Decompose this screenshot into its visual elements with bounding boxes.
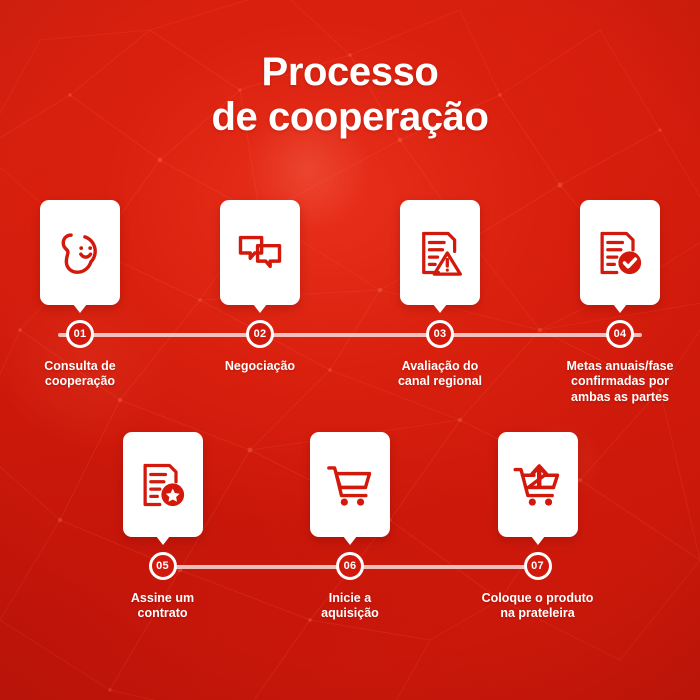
icon-card-strip-row-2 [0,432,700,552]
step-number-badge-02[interactable]: 02 [246,320,274,348]
step-card-05[interactable] [123,432,203,537]
icon-card-slot [40,200,120,320]
step-label-01: Consulta decooperação [5,359,155,405]
chat-bubbles-icon [234,227,286,279]
icon-card-slot [310,432,390,552]
step-number-badge-03[interactable]: 03 [426,320,454,348]
step-labels-strip-row-2: Assine umcontratoInicie aaquisiçãoColoqu… [0,582,700,622]
process-row-1: 01020304 Consulta decooperaçãoNegociação… [0,200,700,405]
page-title-line-2: de cooperação [0,95,700,140]
step-card-02[interactable] [220,200,300,305]
step-card-04[interactable] [580,200,660,305]
step-label-07: Coloque o produtona prateleira [463,591,613,622]
document-warning-icon [414,227,466,279]
step-number-badge-06[interactable]: 06 [336,552,364,580]
page-title: Processo de cooperação [0,50,700,140]
icon-card-slot [400,200,480,320]
document-star-icon [137,459,189,511]
step-label-03: Avaliação docanal regional [365,359,515,405]
page-title-line-1: Processo [0,50,700,95]
icon-card-slot [580,200,660,320]
step-label-06: Inicie aaquisição [275,591,425,622]
step-labels-strip-row-1: Consulta decooperaçãoNegociaçãoAvaliação… [0,350,700,405]
timeline-row-1: 01020304 [0,320,700,350]
step-card-06[interactable] [310,432,390,537]
step-marker-slot: 04 [580,320,660,350]
step-marker-slot: 03 [400,320,480,350]
step-card-03[interactable] [400,200,480,305]
step-labels-row-1: Consulta decooperaçãoNegociaçãoAvaliação… [40,359,660,405]
icon-card-slot [220,200,300,320]
icon-card-slot [123,432,203,552]
step-marker-slot: 05 [123,552,203,582]
step-label-05: Assine umcontrato [88,591,238,622]
step-marker-slot: 01 [40,320,120,350]
icon-cards-row-2 [123,432,578,552]
step-number-badge-04[interactable]: 04 [606,320,634,348]
step-card-07[interactable] [498,432,578,537]
icon-cards-row-1 [40,200,660,320]
timeline-row-2: 050607 [0,552,700,582]
step-card-01[interactable] [40,200,120,305]
icon-card-slot [498,432,578,552]
icon-card-strip-row-1 [0,200,700,320]
document-check-icon [594,227,646,279]
shopping-cart-icon [324,459,376,511]
step-markers-row-2: 050607 [123,552,578,582]
step-number-badge-01[interactable]: 01 [66,320,94,348]
phone-smiley-icon [54,227,106,279]
process-row-2: 050607 Assine umcontratoInicie aaquisiçã… [0,432,700,622]
step-markers-row-1: 01020304 [40,320,660,350]
step-number-badge-05[interactable]: 05 [149,552,177,580]
step-marker-slot: 06 [310,552,390,582]
step-label-02: Negociação [185,359,335,405]
step-number-badge-07[interactable]: 07 [524,552,552,580]
step-marker-slot: 07 [498,552,578,582]
step-marker-slot: 02 [220,320,300,350]
step-label-04: Metas anuais/faseconfirmadas porambas as… [545,359,695,405]
cart-upload-icon [512,459,564,511]
step-labels-row-2: Assine umcontratoInicie aaquisiçãoColoqu… [123,591,578,622]
